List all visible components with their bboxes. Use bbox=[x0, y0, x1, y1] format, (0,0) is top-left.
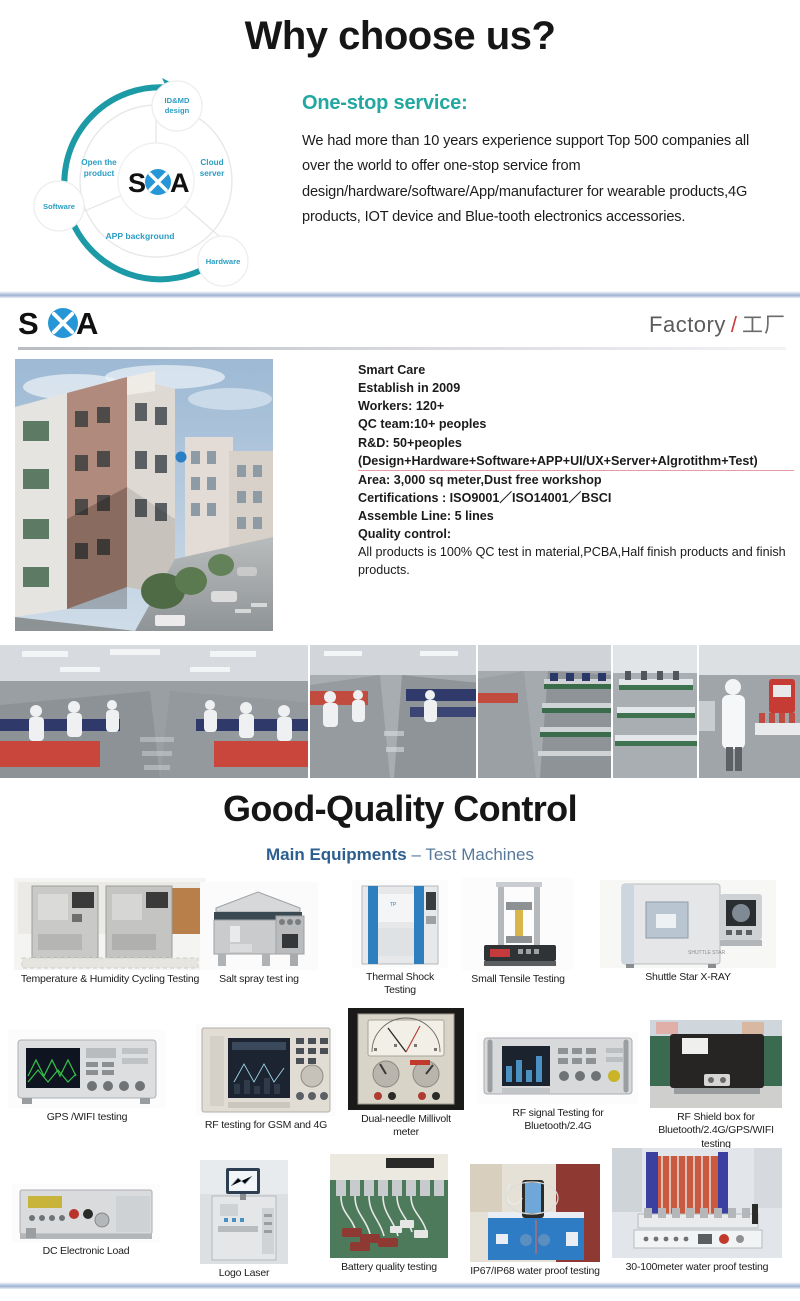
equipment-label: Temperature & Humidity Cycling Testing bbox=[14, 973, 206, 986]
floor-photo-assembly-line-3 bbox=[478, 645, 611, 778]
equipment-label: RF Shield box for Bluetooth/2.4G/GPS/WIF… bbox=[650, 1111, 782, 1151]
node-label-cloud-server-line1: Cloud bbox=[200, 158, 223, 167]
soa-logo-svg: S A bbox=[18, 305, 128, 341]
divider-bottom bbox=[0, 1282, 800, 1289]
logo-letter-a: A bbox=[170, 168, 190, 198]
divider-top bbox=[0, 291, 800, 298]
equipment-row-1: Temperature & Humidity Cycling Testing bbox=[0, 878, 800, 1016]
factory-detail-0: Smart Care bbox=[358, 361, 794, 379]
factory-header-rule bbox=[18, 347, 786, 350]
equipment-item-ip67-ip68-waterproof-tester: IP67/IP68 water proof testing bbox=[470, 1164, 600, 1278]
quality-control-title: Good-Quality Control bbox=[0, 788, 800, 830]
factory-header: S A Factory / 工厂 bbox=[0, 301, 800, 349]
equipment-label: DC Electronic Load bbox=[12, 1245, 160, 1258]
rf-gsm-4g-tester-photo bbox=[196, 1024, 336, 1116]
rf-signal-bluetooth-tester-photo bbox=[478, 1032, 638, 1104]
factory-detail-5: (Design+Hardware+Software+APP+UI/UX+Serv… bbox=[358, 452, 794, 471]
equipment-item-rf-gsm-4g-tester: RF testing for GSM and 4G bbox=[196, 1024, 336, 1132]
factory-label-cn: 工厂 bbox=[742, 309, 786, 339]
factory-floor-photo-strip bbox=[0, 645, 800, 778]
floor-svg-2 bbox=[310, 645, 476, 778]
equipment-item-salt-spray-chamber: Salt spray test ing bbox=[200, 882, 318, 986]
equipment-row-3: DC Electronic Load bbox=[0, 1160, 800, 1301]
node-label-id-md-design-line1: ID&MD bbox=[165, 96, 190, 105]
equipment-item-shuttle-star-xray: SHUTTLE STAR Shuttle Star X-RAY bbox=[600, 880, 776, 984]
floor-svg-1 bbox=[0, 645, 308, 778]
shuttle-star-xray-photo: SHUTTLE STAR bbox=[600, 880, 776, 968]
main-equipments-subtitle: Main Equipments – Test Machines bbox=[0, 845, 800, 865]
equipment-label: Logo Laser bbox=[200, 1267, 288, 1280]
equipment-label: Small Tensile Testing bbox=[462, 973, 574, 986]
equipment-item-temp-humidity-chamber: Temperature & Humidity Cycling Testing bbox=[14, 878, 206, 986]
ecosystem-svg: S A ID&MD design Software Hardware Cloud… bbox=[22, 72, 290, 290]
factory-detail-8: Assemble Line: 5 lines bbox=[358, 507, 794, 525]
node-label-open-product-line2: product bbox=[84, 169, 115, 178]
deep-water-proof-tester-photo bbox=[612, 1148, 782, 1258]
gps-wifi-tester-photo bbox=[8, 1030, 166, 1108]
floor-svg-4 bbox=[613, 645, 697, 778]
factory-building-photo bbox=[15, 359, 273, 631]
svg-text:SHUTTLE STAR: SHUTTLE STAR bbox=[688, 950, 726, 956]
factory-detail-9: Quality control: bbox=[358, 525, 794, 543]
logo-letter-s: S bbox=[128, 168, 146, 198]
equipment-label: GPS /WIFI testing bbox=[8, 1111, 166, 1124]
factory-detail-1: Establish in 2009 bbox=[358, 379, 794, 397]
factory-detail-3: QC team:10+ peoples bbox=[358, 415, 794, 433]
factory-detail-10: All products is 100% QC test in material… bbox=[358, 543, 794, 579]
factory-detail-7: Certifications : ISO9001／ISO14001／BSCI bbox=[358, 489, 794, 507]
factory-detail-2: Workers: 120+ bbox=[358, 397, 794, 415]
equipment-label: Thermal Shock Testing bbox=[352, 971, 448, 998]
equipment-item-battery-quality-tester: Battery quality testing bbox=[330, 1154, 448, 1274]
node-label-app-background: APP background bbox=[105, 231, 174, 241]
equipment-grid: Temperature & Humidity Cycling Testing bbox=[0, 878, 800, 1301]
rf-shield-box-photo bbox=[650, 1020, 782, 1108]
quality-control-section: Good-Quality Control Main Equipments – T… bbox=[0, 782, 800, 1282]
equipment-item-deep-water-proof-tester: 30-100meter water proof testing bbox=[612, 1148, 782, 1274]
one-stop-heading: One-stop service: bbox=[302, 92, 772, 115]
factory-label-en: Factory bbox=[649, 312, 726, 338]
equipment-row-2: GPS /WIFI testing bbox=[0, 1016, 800, 1160]
node-label-open-product-line1: Open the bbox=[81, 158, 117, 167]
equipment-item-dual-needle-millivolt-meter: Dual-needle Millivolt meter bbox=[348, 1008, 464, 1140]
node-label-software: Software bbox=[43, 202, 75, 211]
logo-letter-a: A bbox=[76, 306, 98, 341]
thermal-shock-chamber-photo: TP bbox=[352, 880, 448, 968]
building-photo-svg bbox=[15, 359, 273, 631]
equipment-item-rf-signal-bluetooth-tester: RF signal Testing for Bluetooth/2.4G bbox=[478, 1032, 638, 1134]
equipment-item-logo-laser: Logo Laser bbox=[200, 1160, 288, 1280]
dc-electronic-load-photo bbox=[12, 1184, 160, 1242]
subtitle-rest: – Test Machines bbox=[411, 845, 534, 864]
floor-photo-worker-station bbox=[699, 645, 800, 778]
why-choose-us-section: Why choose us? S A bbox=[0, 0, 800, 294]
factory-label-group: Factory / 工厂 bbox=[649, 309, 786, 339]
node-label-cloud-server-line2: server bbox=[200, 169, 225, 178]
equipment-label: Dual-needle Millivolt meter bbox=[348, 1113, 464, 1140]
node-label-id-md-design-line2: design bbox=[165, 106, 190, 115]
factory-label-slash: / bbox=[731, 312, 737, 338]
floor-photo-storage-racks bbox=[613, 645, 697, 778]
equipment-label: 30-100meter water proof testing bbox=[612, 1261, 782, 1274]
equipment-item-dc-electronic-load: DC Electronic Load bbox=[12, 1184, 160, 1258]
salt-spray-chamber-photo bbox=[200, 882, 318, 970]
logo-letter-s: S bbox=[18, 306, 39, 341]
small-tensile-tester-photo bbox=[462, 878, 574, 970]
equipment-item-gps-wifi-tester: GPS /WIFI testing bbox=[8, 1030, 166, 1124]
battery-quality-tester-photo bbox=[330, 1154, 448, 1258]
equipment-label: Salt spray test ing bbox=[200, 973, 318, 986]
ip67-ip68-waterproof-tester-photo bbox=[470, 1164, 600, 1262]
floor-svg-5 bbox=[699, 645, 800, 778]
equipment-item-small-tensile-tester: Small Tensile Testing bbox=[462, 878, 574, 986]
svg-text:TP: TP bbox=[390, 902, 397, 908]
dual-needle-millivolt-meter-photo bbox=[348, 1008, 464, 1110]
equipment-item-thermal-shock-chamber: TP Thermal Shock Testing bbox=[352, 880, 448, 998]
equipment-label: IP67/IP68 water proof testing bbox=[470, 1265, 600, 1278]
floor-photo-assembly-line-1 bbox=[0, 645, 308, 778]
subtitle-bold: Main Equipments bbox=[266, 845, 407, 864]
equipment-label: Shuttle Star X-RAY bbox=[600, 971, 776, 984]
one-stop-body: We had more than 10 years experience sup… bbox=[302, 129, 772, 231]
floor-photo-assembly-line-2 bbox=[310, 645, 476, 778]
page-title: Why choose us? bbox=[0, 14, 800, 59]
floor-svg-3 bbox=[478, 645, 611, 778]
factory-detail-6: Area: 3,000 sq meter,Dust free workshop bbox=[358, 471, 794, 489]
equipment-label: Battery quality testing bbox=[330, 1261, 448, 1274]
factory-details-list: Smart Care Establish in 2009 Workers: 12… bbox=[358, 361, 794, 580]
logo-laser-photo bbox=[200, 1160, 288, 1264]
soa-logo: S A bbox=[18, 305, 128, 341]
equipment-label: RF testing for GSM and 4G bbox=[196, 1119, 336, 1132]
soa-ecosystem-diagram: S A ID&MD design Software Hardware Cloud… bbox=[22, 72, 290, 290]
temp-humidity-chamber-photo bbox=[14, 878, 206, 970]
factory-section: S A Factory / 工厂 bbox=[0, 301, 800, 638]
node-label-hardware: Hardware bbox=[206, 257, 241, 266]
equipment-item-rf-shield-box: RF Shield box for Bluetooth/2.4G/GPS/WIF… bbox=[650, 1020, 782, 1151]
one-stop-service-block: One-stop service: We had more than 10 ye… bbox=[302, 92, 772, 231]
factory-detail-4: R&D: 50+peoples bbox=[358, 434, 794, 452]
page-root: Why choose us? S A bbox=[0, 0, 800, 1301]
equipment-label: RF signal Testing for Bluetooth/2.4G bbox=[478, 1107, 638, 1134]
